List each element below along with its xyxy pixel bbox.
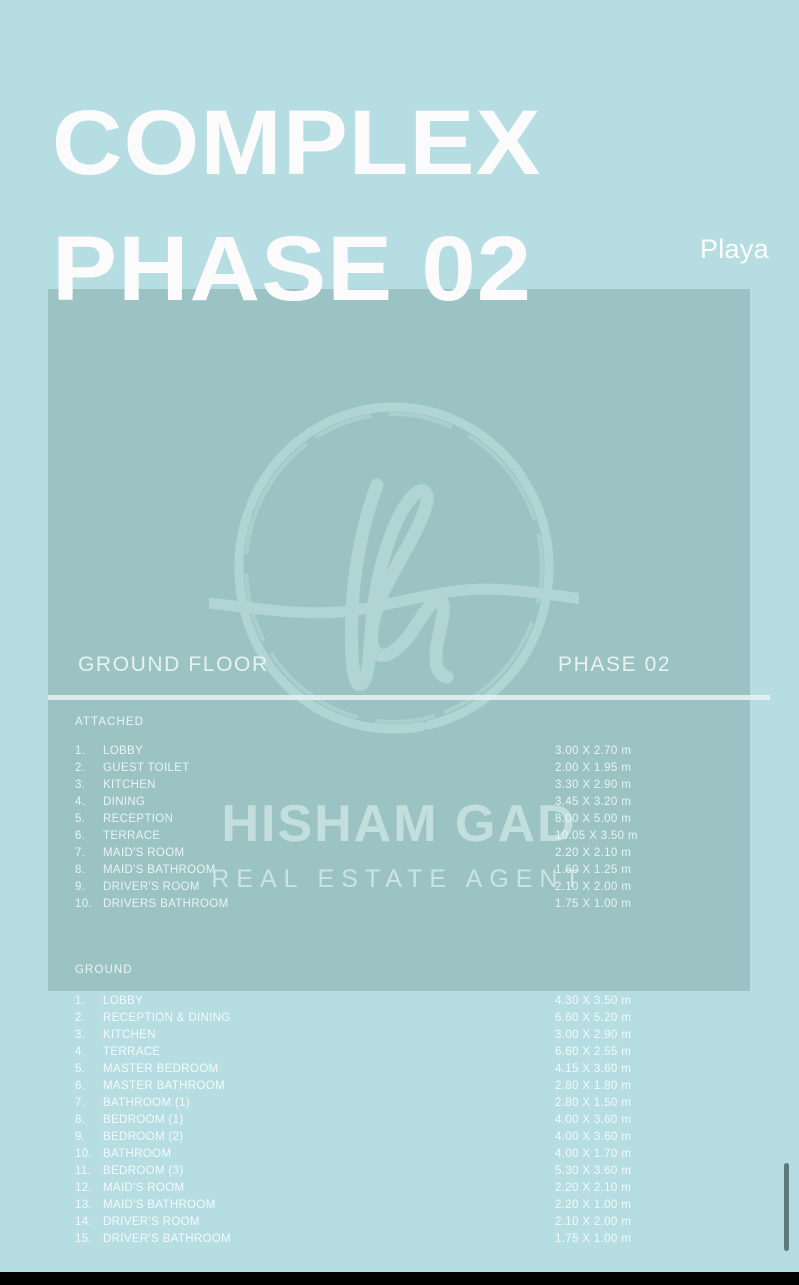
floor-label: GROUND FLOOR <box>78 653 269 677</box>
room-row: 15.DRIVER'S BATHROOM1.75 X 1.00 m <box>75 1231 715 1248</box>
room-name: TERRACE <box>103 828 160 845</box>
room-row: 8.BEDROOM (1)4.00 X 3.60 m <box>75 1112 715 1129</box>
room-dimension: 1.60 X 1.25 m <box>555 862 631 879</box>
room-index: 14. <box>75 1214 101 1231</box>
room-index: 9. <box>75 1129 101 1146</box>
room-index: 4. <box>75 1044 101 1061</box>
room-dimension: 1.75 X 1.00 m <box>555 1231 631 1248</box>
room-name: DRIVER'S ROOM <box>103 879 200 896</box>
room-name: MAID'S BATHROOM <box>103 862 216 879</box>
room-name: BEDROOM (1) <box>103 1112 184 1129</box>
room-index: 2. <box>75 760 101 777</box>
phase-label: PHASE 02 <box>558 653 671 677</box>
room-name: BEDROOM (2) <box>103 1129 184 1146</box>
room-index: 7. <box>75 1095 101 1112</box>
room-index: 6. <box>75 1078 101 1095</box>
room-dimension: 2.20 X 1.00 m <box>555 1197 631 1214</box>
room-dimension: 8.00 X 5.00 m <box>555 811 631 828</box>
room-index: 2. <box>75 1010 101 1027</box>
room-name: MAID'S ROOM <box>103 1180 184 1197</box>
room-dimension: 3.00 X 2.70 m <box>555 743 631 760</box>
room-dimension: 3.45 X 3.20 m <box>555 794 631 811</box>
room-row: 4.DINING3.45 X 3.20 m <box>75 794 715 811</box>
room-dimension: 10.05 X 3.50 m <box>555 828 638 845</box>
room-row: 2.RECEPTION & DINING6.60 X 5.20 m <box>75 1010 715 1027</box>
room-name: BATHROOM <box>103 1146 171 1163</box>
room-dimension: 4.00 X 1.70 m <box>555 1146 631 1163</box>
room-dimension: 2.80 X 1.50 m <box>555 1095 631 1112</box>
section-divider <box>48 695 770 700</box>
room-dimension: 2.00 X 1.95 m <box>555 760 631 777</box>
room-row: 13.MAID'S BATHROOM2.20 X 1.00 m <box>75 1197 715 1214</box>
room-dimension: 4.30 X 3.50 m <box>555 993 631 1010</box>
room-row: 2.GUEST TOILET2.00 X 1.95 m <box>75 760 715 777</box>
room-index: 8. <box>75 862 101 879</box>
system-bottom-bar <box>0 1272 799 1285</box>
room-row: 9.BEDROOM (2)4.00 X 3.60 m <box>75 1129 715 1146</box>
room-dimension: 2.20 X 2.10 m <box>555 845 631 862</box>
room-dimension: 4.00 X 3.60 m <box>555 1112 631 1129</box>
room-index: 3. <box>75 1027 101 1044</box>
group-title-attached: ATTACHED <box>75 716 144 728</box>
room-row: 6.MASTER BATHROOM2.80 X 1.80 m <box>75 1078 715 1095</box>
room-dimension: 1.75 X 1.00 m <box>555 896 631 913</box>
room-index: 11. <box>75 1163 101 1180</box>
room-row: 9.DRIVER'S ROOM2.10 X 2.00 m <box>75 879 715 896</box>
room-index: 15. <box>75 1231 101 1248</box>
room-list-attached: 1.LOBBY3.00 X 2.70 m2.GUEST TOILET2.00 X… <box>75 743 715 913</box>
room-dimension: 3.00 X 2.90 m <box>555 1027 631 1044</box>
room-row: 4.TERRACE6.60 X 2.55 m <box>75 1044 715 1061</box>
room-list-ground: 1.LOBBY4.30 X 3.50 m2.RECEPTION & DINING… <box>75 993 715 1248</box>
room-index: 3. <box>75 777 101 794</box>
group-title-ground: GROUND <box>75 964 133 976</box>
room-row: 1.LOBBY3.00 X 2.70 m <box>75 743 715 760</box>
room-dimension: 4.00 X 3.60 m <box>555 1129 631 1146</box>
room-name: MASTER BEDROOM <box>103 1061 218 1078</box>
room-dimension: 4.15 X 3.60 m <box>555 1061 631 1078</box>
room-name: BATHROOM (1) <box>103 1095 190 1112</box>
room-dimension: 2.10 X 2.00 m <box>555 1214 631 1231</box>
room-row: 10.BATHROOM4.00 X 1.70 m <box>75 1146 715 1163</box>
room-row: 5.MASTER BEDROOM4.15 X 3.60 m <box>75 1061 715 1078</box>
room-index: 8. <box>75 1112 101 1129</box>
scrollbar-track[interactable] <box>784 0 790 1272</box>
poster-page: HISHAM GAD REAL ESTATE AGENT COMPLEX PHA… <box>0 0 799 1285</box>
room-name: DINING <box>103 794 145 811</box>
room-name: RECEPTION & DINING <box>103 1010 231 1027</box>
room-index: 5. <box>75 1061 101 1078</box>
room-name: DRIVER'S BATHROOM <box>103 1231 231 1248</box>
room-row: 12.MAID'S ROOM2.20 X 2.10 m <box>75 1180 715 1197</box>
room-dimension: 2.80 X 1.80 m <box>555 1078 631 1095</box>
room-name: MASTER BATHROOM <box>103 1078 225 1095</box>
room-index: 4. <box>75 794 101 811</box>
room-name: MAID'S BATHROOM <box>103 1197 216 1214</box>
room-name: DRIVER'S ROOM <box>103 1214 200 1231</box>
room-row: 3.KITCHEN3.00 X 2.90 m <box>75 1027 715 1044</box>
plan-content: GROUND FLOOR PHASE 02 ATTACHED 1.LOBBY3.… <box>0 0 799 1285</box>
room-name: LOBBY <box>103 743 143 760</box>
room-name: BEDROOM (3) <box>103 1163 184 1180</box>
room-index: 5. <box>75 811 101 828</box>
room-name: MAID'S ROOM <box>103 845 184 862</box>
room-row: 5.RECEPTION8.00 X 5.00 m <box>75 811 715 828</box>
room-dimension: 5.30 X 3.60 m <box>555 1163 631 1180</box>
room-row: 14.DRIVER'S ROOM2.10 X 2.00 m <box>75 1214 715 1231</box>
room-row: 1.LOBBY4.30 X 3.50 m <box>75 993 715 1010</box>
room-row: 3.KITCHEN3.30 X 2.90 m <box>75 777 715 794</box>
room-name: TERRACE <box>103 1044 160 1061</box>
room-name: GUEST TOILET <box>103 760 190 777</box>
room-index: 1. <box>75 743 101 760</box>
room-row: 8.MAID'S BATHROOM1.60 X 1.25 m <box>75 862 715 879</box>
room-index: 1. <box>75 993 101 1010</box>
room-index: 13. <box>75 1197 101 1214</box>
room-dimension: 2.10 X 2.00 m <box>555 879 631 896</box>
room-row: 7.MAID'S ROOM2.20 X 2.10 m <box>75 845 715 862</box>
room-name: LOBBY <box>103 993 143 1010</box>
room-dimension: 2.20 X 2.10 m <box>555 1180 631 1197</box>
room-dimension: 6.60 X 5.20 m <box>555 1010 631 1027</box>
room-index: 7. <box>75 845 101 862</box>
room-dimension: 3.30 X 2.90 m <box>555 777 631 794</box>
room-name: KITCHEN <box>103 777 156 794</box>
room-name: RECEPTION <box>103 811 173 828</box>
room-row: 7.BATHROOM (1)2.80 X 1.50 m <box>75 1095 715 1112</box>
scrollbar-thumb[interactable] <box>784 1163 789 1251</box>
room-index: 10. <box>75 1146 101 1163</box>
room-row: 11.BEDROOM (3)5.30 X 3.60 m <box>75 1163 715 1180</box>
room-index: 6. <box>75 828 101 845</box>
room-index: 12. <box>75 1180 101 1197</box>
room-index: 9. <box>75 879 101 896</box>
room-row: 6.TERRACE10.05 X 3.50 m <box>75 828 715 845</box>
room-index: 10. <box>75 896 101 913</box>
room-name: DRIVERS BATHROOM <box>103 896 229 913</box>
room-name: KITCHEN <box>103 1027 156 1044</box>
room-row: 10.DRIVERS BATHROOM1.75 X 1.00 m <box>75 896 715 913</box>
room-dimension: 6.60 X 2.55 m <box>555 1044 631 1061</box>
